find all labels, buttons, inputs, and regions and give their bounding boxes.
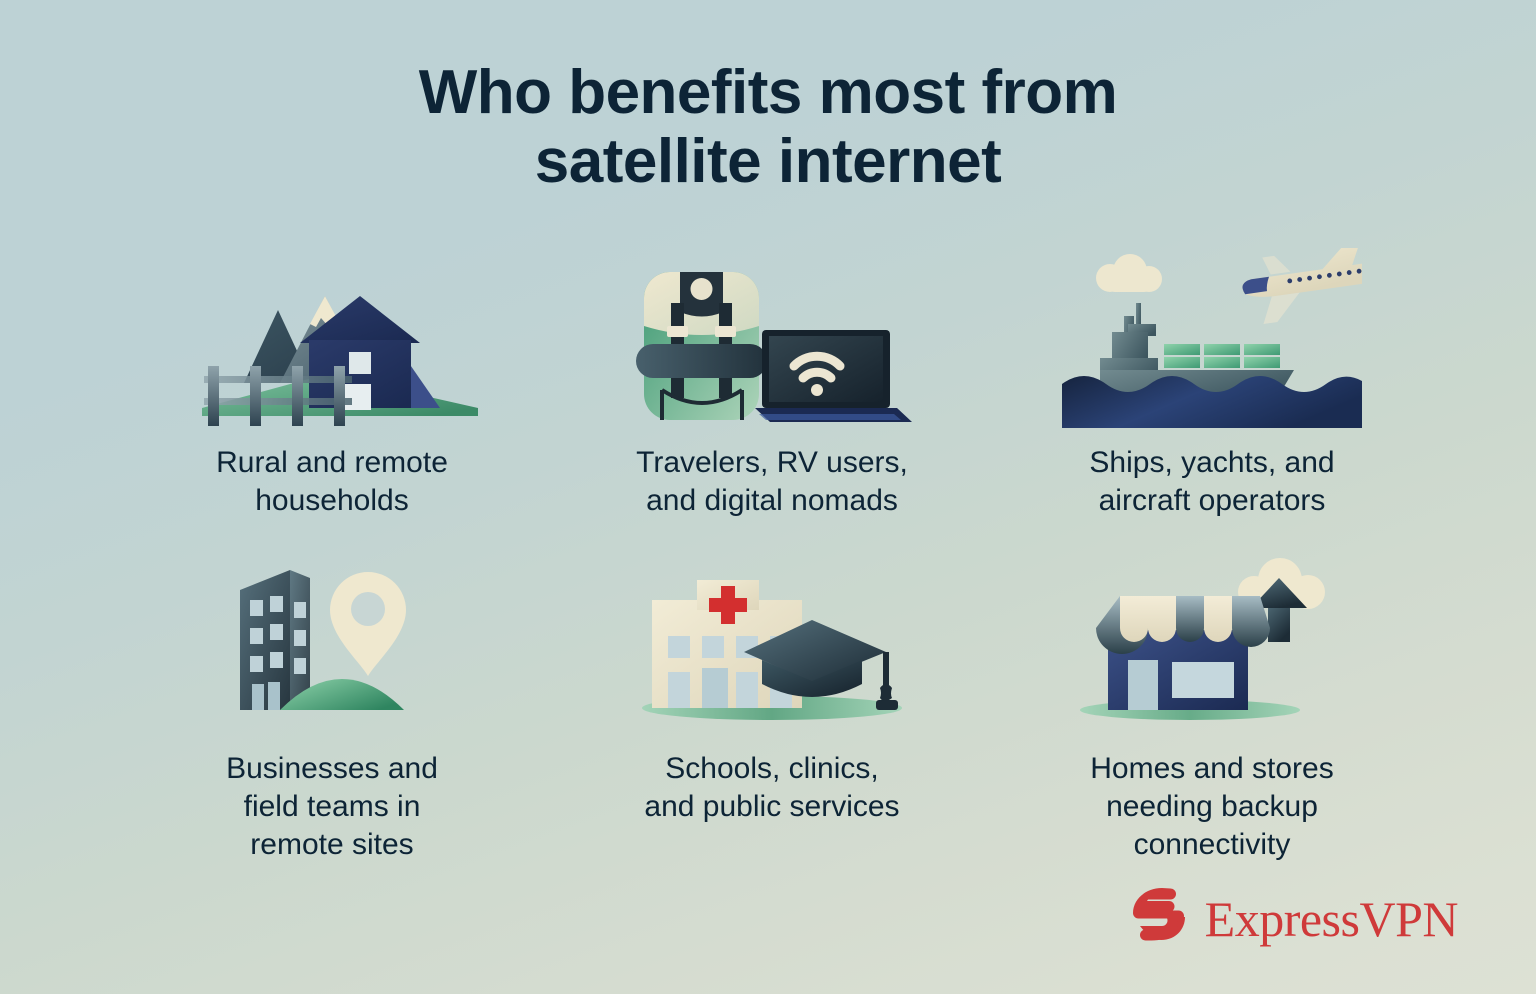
office-building-location-pin-icon	[182, 548, 482, 728]
benefit-card-label: Homes and stores needing backup connecti…	[1090, 750, 1333, 863]
page-title: Who benefits most from satellite interne…	[0, 0, 1536, 197]
page-title-line-2: satellite internet	[0, 127, 1536, 196]
benefit-card-backup-connectivity: Homes and stores needing backup connecti…	[992, 548, 1432, 848]
benefit-card-ships-aircraft: Ships, yachts, and aircraft operators	[992, 248, 1432, 548]
benefit-card-rural-households: Rural and remote households	[112, 248, 552, 548]
expressvpn-e-mark-icon	[1129, 885, 1191, 952]
storefront-cloud-upload-icon	[1062, 548, 1362, 728]
benefit-card-label: Rural and remote households	[216, 444, 448, 520]
cargo-ship-airplane-icon	[1062, 248, 1362, 428]
backpack-laptop-wifi-icon	[622, 248, 922, 428]
benefit-card-businesses: Businesses and field teams in remote sit…	[112, 548, 552, 848]
benefit-card-label: Ships, yachts, and aircraft operators	[1089, 444, 1334, 520]
rural-house-mountains-icon	[182, 248, 482, 428]
page-title-line-1: Who benefits most from	[0, 58, 1536, 127]
benefit-card-label: Businesses and field teams in remote sit…	[226, 750, 438, 863]
benefit-grid: Rural and remote households	[112, 248, 1432, 848]
benefit-card-label: Travelers, RV users, and digital nomads	[636, 444, 908, 520]
expressvpn-logo: ExpressVPN	[1129, 885, 1458, 952]
hospital-graduation-cap-icon	[622, 548, 922, 728]
benefit-card-travelers: Travelers, RV users, and digital nomads	[552, 248, 992, 548]
benefit-card-schools-clinics: Schools, clinics, and public services	[552, 548, 992, 848]
benefit-card-label: Schools, clinics, and public services	[644, 750, 899, 826]
expressvpn-wordmark: ExpressVPN	[1205, 894, 1458, 944]
